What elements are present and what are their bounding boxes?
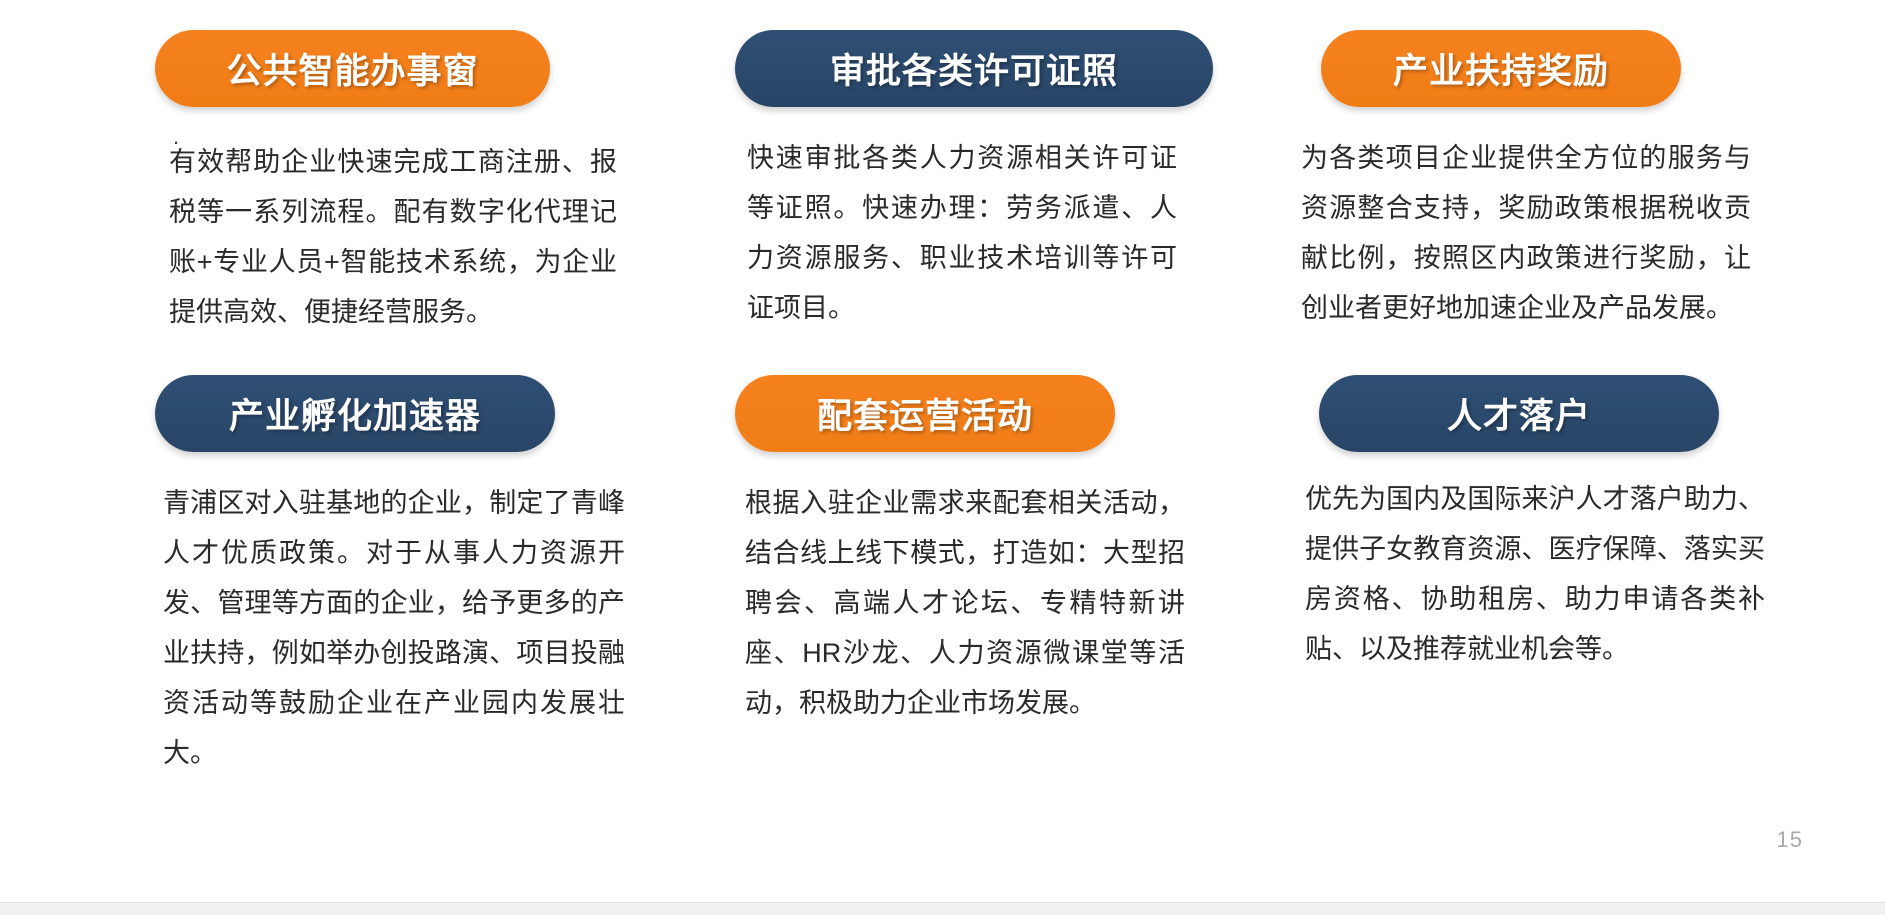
bottom-strip (0, 902, 1885, 915)
card-approve-licenses: 审批各类许可证照 快速审批各类人力资源相关许可证等证照。快速办理：劳务派遣、人力… (735, 30, 1215, 337)
slide-root: 公共智能办事窗 . 有效帮助企业快速完成工商注册、报税等一系列流程。配有数字化代… (0, 0, 1885, 915)
card-body-text: 快速审批各类人力资源相关许可证等证照。快速办理：劳务派遣、人力资源服务、职业技术… (747, 133, 1177, 333)
card-body-text: 根据入驻企业需求来配套相关活动，结合线上线下模式，打造如：大型招聘会、高端人才论… (745, 478, 1185, 728)
card-grid: 公共智能办事窗 . 有效帮助企业快速完成工商注册、报税等一系列流程。配有数字化代… (155, 30, 1775, 778)
card-industry-support-award: 产业扶持奖励 为各类项目企业提供全方位的服务与资源整合支持，奖励政策根据税收贡献… (1295, 30, 1775, 337)
card-title-text: 产业孵化加速器 (229, 388, 481, 439)
card-body-text: 为各类项目企业提供全方位的服务与资源整合支持，奖励政策根据税收贡献比例，按照区内… (1301, 133, 1751, 333)
card-title-text: 审批各类许可证照 (830, 43, 1118, 94)
card-body-text: 优先为国内及国际来沪人才落户助力、提供子女教育资源、医疗保障、落实买房资格、协助… (1305, 474, 1765, 674)
card-supporting-operation-activities: 配套运营活动 根据入驻企业需求来配套相关活动，结合线上线下模式，打造如：大型招聘… (735, 375, 1215, 778)
card-title-text: 公共智能办事窗 (226, 43, 478, 94)
card-public-smart-service-window: 公共智能办事窗 . 有效帮助企业快速完成工商注册、报税等一系列流程。配有数字化代… (155, 30, 635, 337)
card-industry-incubation-accelerator: 产业孵化加速器 青浦区对入驻基地的企业，制定了青峰人才优质政策。对于从事人力资源… (155, 375, 635, 778)
card-title-pill[interactable]: 配套运营活动 (735, 375, 1115, 452)
card-title-pill[interactable]: 产业扶持奖励 (1321, 30, 1681, 107)
card-title-text: 人才落户 (1447, 388, 1591, 439)
lead-dot-mark: . (173, 126, 179, 148)
card-body-text: 有效帮助企业快速完成工商注册、报税等一系列流程。配有数字化代理记账+专业人员+智… (169, 137, 617, 337)
card-title-text: 产业扶持奖励 (1393, 43, 1609, 94)
card-talent-residency: 人才落户 优先为国内及国际来沪人才落户助力、提供子女教育资源、医疗保障、落实买房… (1295, 375, 1775, 778)
card-title-pill[interactable]: 产业孵化加速器 (155, 375, 555, 452)
card-body-text: 青浦区对入驻基地的企业，制定了青峰人才优质政策。对于从事人力资源开发、管理等方面… (163, 478, 625, 778)
card-title-pill[interactable]: 审批各类许可证照 (735, 30, 1213, 107)
card-title-text: 配套运营活动 (817, 388, 1033, 439)
card-title-pill[interactable]: 人才落户 (1319, 375, 1719, 452)
page-number: 15 (1777, 827, 1803, 853)
card-title-pill[interactable]: 公共智能办事窗 (155, 30, 550, 107)
